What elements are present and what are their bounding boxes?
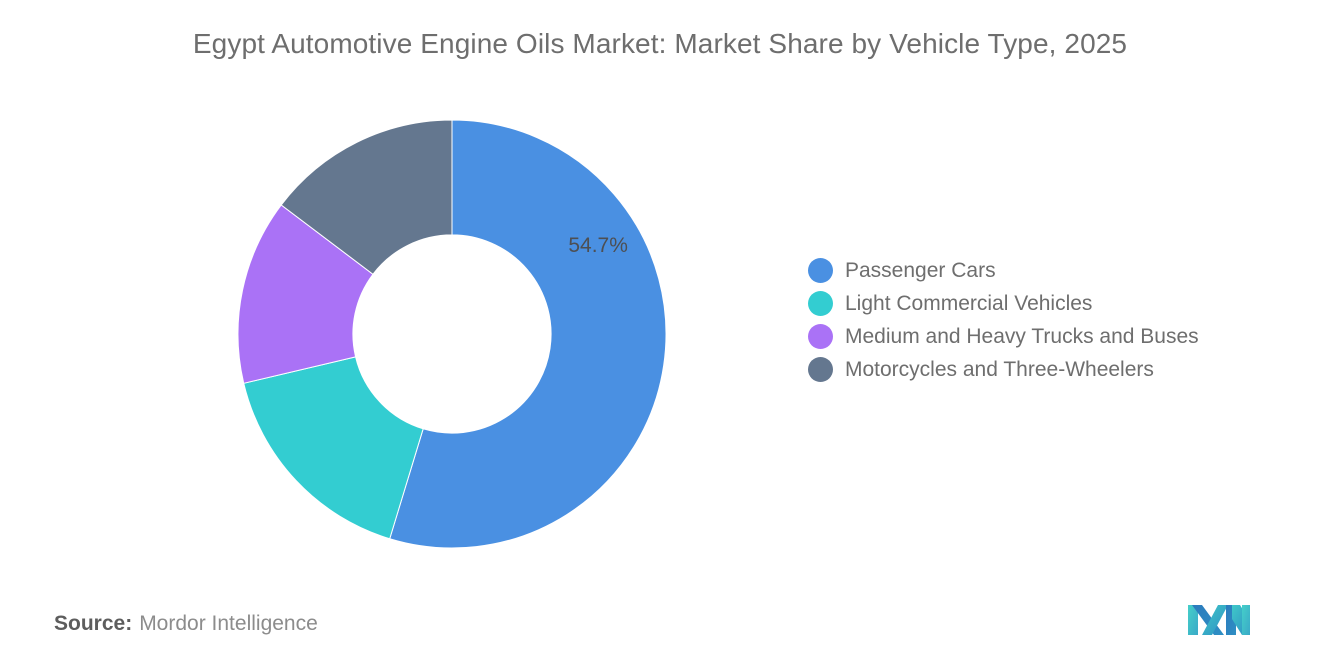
- donut-chart-svg: [238, 120, 666, 548]
- legend-item[interactable]: Passenger Cars: [808, 254, 1278, 287]
- mordor-intelligence-logo: [1186, 599, 1252, 641]
- source-label: Source:: [54, 612, 132, 635]
- chart-page: Egypt Automotive Engine Oils Market: Mar…: [0, 0, 1320, 665]
- donut-slice-group: [238, 120, 666, 548]
- legend-item-label: Light Commercial Vehicles: [845, 293, 1092, 314]
- legend-swatch-icon: [808, 258, 833, 283]
- donut-slice[interactable]: [244, 357, 423, 539]
- legend-swatch-icon: [808, 324, 833, 349]
- source-value: Mordor Intelligence: [139, 612, 318, 635]
- chart-legend: Passenger Cars Light Commercial Vehicles…: [808, 254, 1278, 386]
- legend-swatch-icon: [808, 357, 833, 382]
- legend-item[interactable]: Medium and Heavy Trucks and Buses: [808, 320, 1278, 353]
- logo-mark-icon: [1186, 599, 1252, 641]
- source-attribution: Source:Mordor Intelligence: [54, 612, 318, 636]
- legend-item-label: Motorcycles and Three-Wheelers: [845, 359, 1154, 380]
- legend-item-label: Medium and Heavy Trucks and Buses: [845, 326, 1199, 347]
- legend-item[interactable]: Motorcycles and Three-Wheelers: [808, 353, 1278, 386]
- legend-item-label: Passenger Cars: [845, 260, 996, 281]
- legend-item[interactable]: Light Commercial Vehicles: [808, 287, 1278, 320]
- legend-swatch-icon: [808, 291, 833, 316]
- page-title: Egypt Automotive Engine Oils Market: Mar…: [0, 28, 1320, 60]
- donut-chart: 54.7%: [238, 120, 666, 548]
